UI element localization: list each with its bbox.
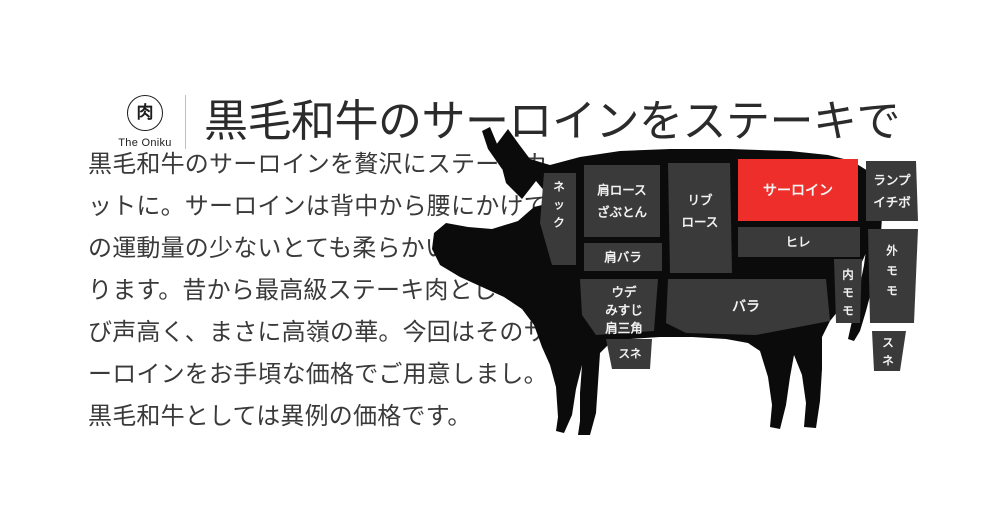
cut-hire[interactable]: ヒレ — [738, 227, 860, 257]
page-root: 肉 The Oniku 黒毛和牛のサーロインをステーキで 黒毛和牛のサーロインを… — [0, 0, 1000, 517]
cut-kata-bara[interactable]: 肩バラ — [584, 243, 662, 271]
beef-cut-chart-svg: ネ ッ ク 肩ロース ざぶとん 肩バラ リブ ロース — [430, 125, 990, 445]
cut-label-uchi-momo: モ — [842, 286, 854, 300]
cut-rib-rosu[interactable]: リブ ロース — [668, 163, 732, 273]
cut-sirloin[interactable]: サーロイン — [738, 159, 858, 221]
cut-label-ude: ウデ — [611, 285, 637, 300]
cut-label-uchi-momo: 内 — [842, 268, 854, 282]
cut-soto-momo[interactable]: 外 モ モ — [868, 229, 918, 323]
cut-kata-rosu[interactable]: 肩ロース ざぶとん — [584, 165, 660, 237]
niku-glyph: 肉 — [137, 105, 154, 122]
cut-label-misuji: みすじ — [605, 303, 643, 318]
cut-rump-ichibo[interactable]: ランプ イチボ — [866, 161, 918, 221]
cut-label-kata-sankaku: 肩三角 — [605, 321, 643, 336]
cut-label-sirloin: サーロイン — [763, 183, 833, 199]
page-header: 肉 The Oniku 黒毛和牛のサーロインをステーキで — [0, 40, 1000, 120]
cut-label-rib-1: リブ — [687, 193, 713, 208]
cut-label-uchi-momo: モ — [842, 304, 854, 318]
cut-label-sune-rear: ス — [882, 336, 894, 350]
cut-label-rump: ランプ — [873, 173, 911, 188]
cut-label-neck: ク — [553, 216, 565, 230]
cut-label-neck: ッ — [553, 198, 565, 212]
cut-label-soto-momo: モ — [886, 284, 898, 298]
cut-label-kata-rosu: 肩ロース — [597, 183, 646, 198]
cut-label-zabuton: ざぶとん — [597, 205, 648, 220]
cut-sune-front[interactable]: スネ — [606, 339, 652, 369]
cut-label-neck: ネ — [553, 180, 565, 194]
cut-uchi-momo[interactable]: 内 モ モ — [834, 259, 862, 323]
cut-label-kata-bara: 肩バラ — [604, 250, 642, 265]
cut-ude-misuji-sankaku[interactable]: ウデ みすじ 肩三角 — [580, 279, 658, 336]
cut-label-bara: バラ — [732, 299, 760, 315]
cut-label-soto-momo: 外 — [885, 244, 898, 258]
beef-cut-chart: ネ ッ ク 肩ロース ざぶとん 肩バラ リブ ロース — [430, 125, 990, 445]
cut-label-rib-2: ロース — [682, 215, 719, 230]
cut-label-hire: ヒレ — [785, 235, 810, 250]
cut-label-ichibo: イチボ — [873, 195, 911, 210]
header-divider — [185, 95, 186, 149]
cut-label-soto-momo: モ — [886, 264, 898, 278]
cut-sune-rear[interactable]: ス ネ — [872, 331, 906, 371]
cut-label-sune-front: スネ — [619, 347, 642, 361]
cut-label-sune-rear: ネ — [882, 354, 894, 368]
circle-niku-logo-icon: 肉 — [127, 95, 163, 131]
